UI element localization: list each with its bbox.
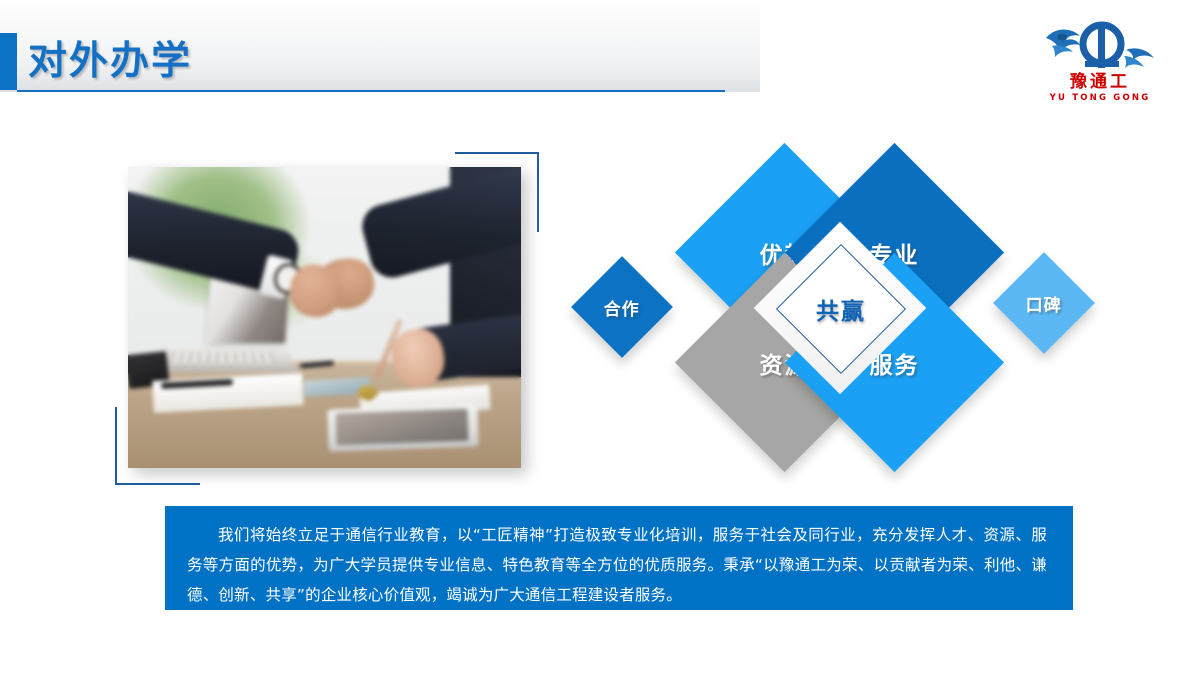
diamond-label: 合作 bbox=[604, 295, 640, 320]
logo-chinese-text: 豫通工 bbox=[1040, 73, 1160, 92]
header-underline bbox=[17, 90, 725, 92]
page-title: 对外办学 bbox=[28, 33, 192, 91]
header-accent-bar bbox=[0, 33, 17, 90]
description-text: 我们将始终立足于通信行业教育，以“工匠精神”打造极致专业化培训，服务于社会及同行… bbox=[187, 520, 1047, 610]
company-logo: 豫通工 YU TONG GONG bbox=[1040, 16, 1160, 108]
logo-pinyin-text: YU TONG GONG bbox=[1040, 93, 1160, 103]
photo-corner-accent-top-right bbox=[455, 152, 539, 232]
diamond-node-reputation[interactable]: 口碑 bbox=[993, 252, 1095, 354]
slide-canvas: 对外办学 豫通工 YU TONG GONG bbox=[0, 0, 1200, 675]
dragon-logo-icon bbox=[1040, 16, 1160, 76]
diamond-diagram: 合作 优势 专业 资源 服务 口碑 共赢 bbox=[580, 140, 1120, 480]
diamond-label: 口碑 bbox=[1026, 291, 1062, 316]
description-panel: 我们将始终立足于通信行业教育，以“工匠精神”打造极致专业化培训，服务于社会及同行… bbox=[165, 506, 1073, 610]
diamond-node-cooperation[interactable]: 合作 bbox=[571, 256, 673, 358]
photo-corner-accent-bottom-left bbox=[115, 407, 200, 485]
diamond-center-label: 共赢 bbox=[816, 292, 866, 326]
